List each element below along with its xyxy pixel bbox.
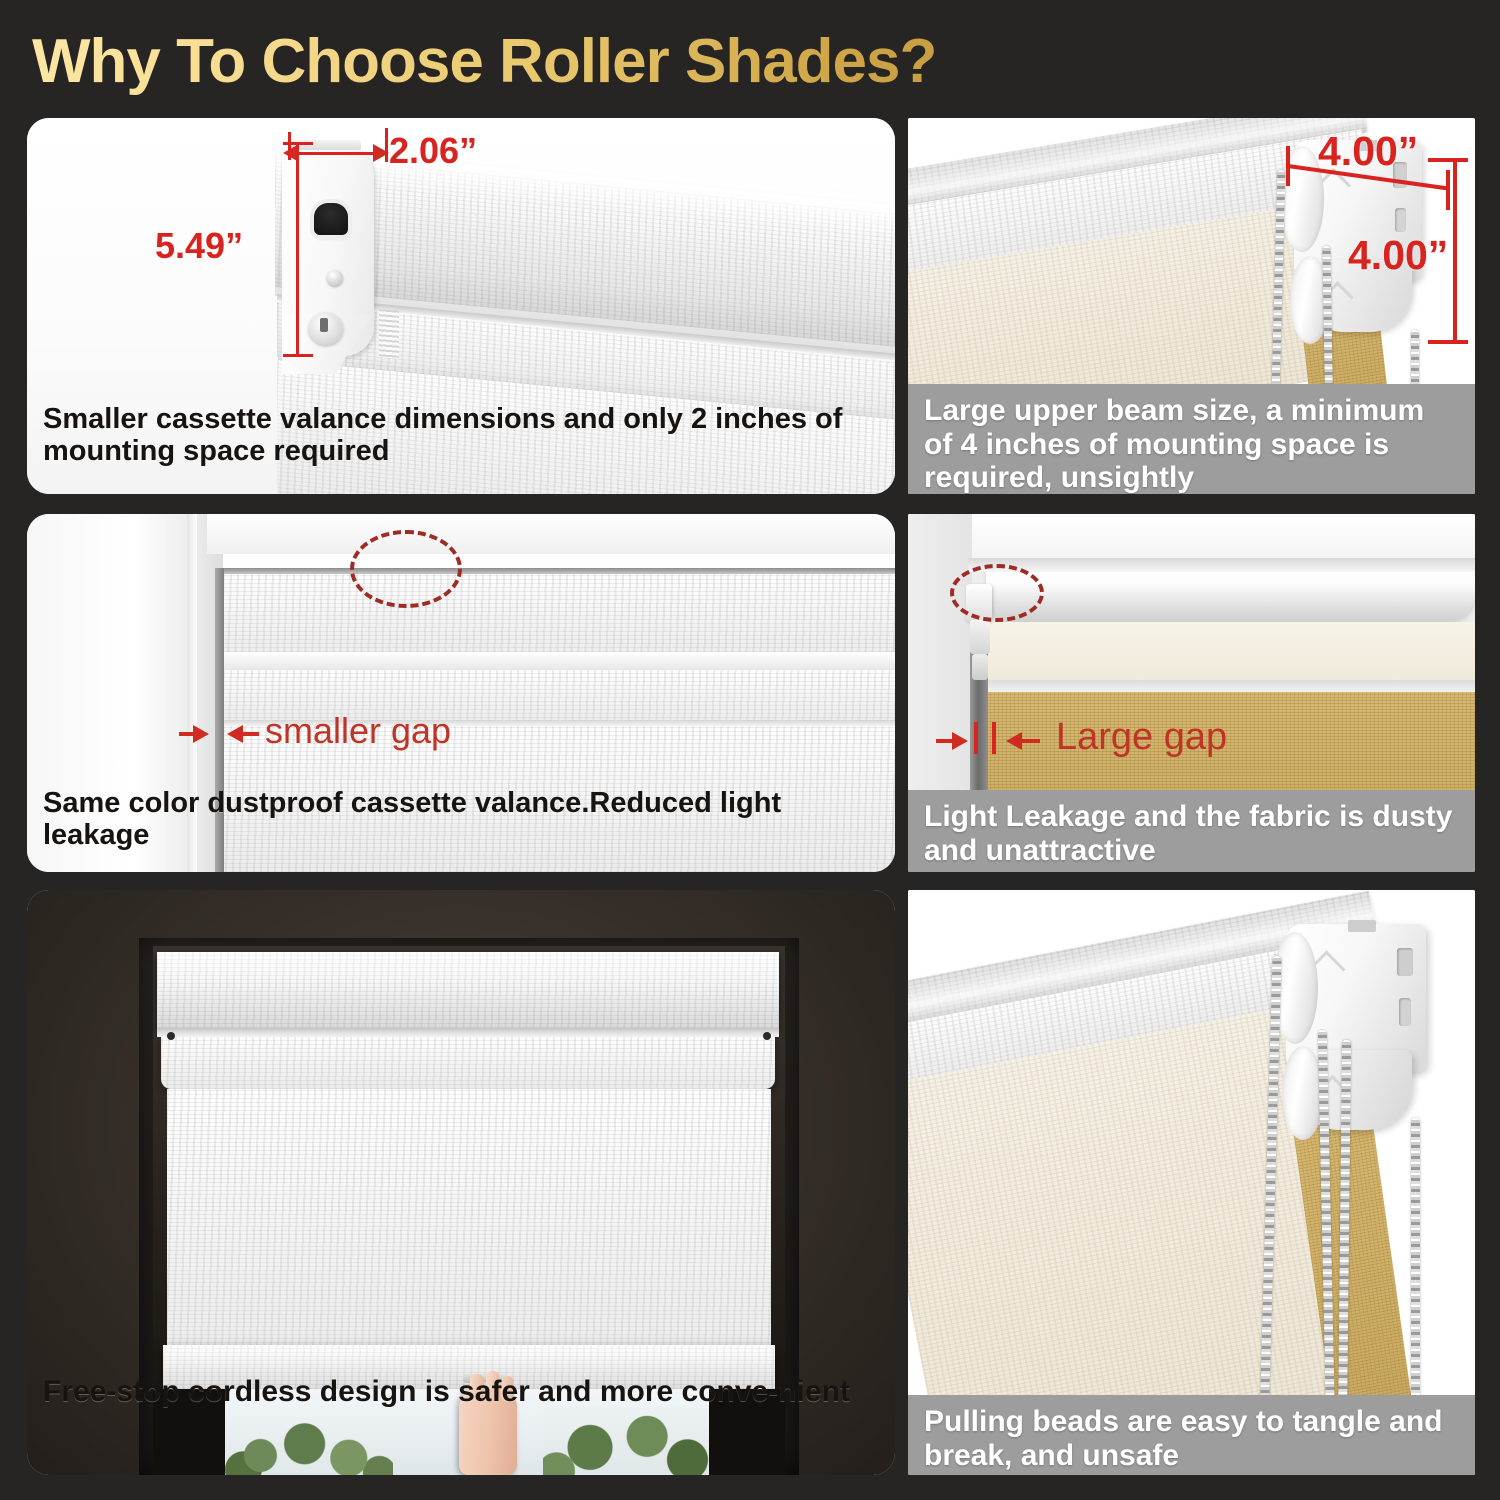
gap-tick-a xyxy=(974,722,978,754)
panel-large-upper-beam: 4.00” 4.00” Large upper beam size, a min… xyxy=(908,118,1475,494)
beam-width-tick-left xyxy=(1286,146,1290,186)
width-dimension-label: 2.06” xyxy=(389,130,477,172)
height-dimension-line xyxy=(296,142,299,356)
panel-4-caption: Light Leakage and the fabric is dusty an… xyxy=(908,790,1475,872)
page-title: Why To Choose Roller Shades? xyxy=(32,24,1132,100)
beam-height-line xyxy=(1453,158,1457,344)
highlight-ellipse xyxy=(350,530,462,608)
panel-dustproof-cassette: smaller gap Same color dustproof cassett… xyxy=(27,514,895,872)
gap-arrow-stem-right xyxy=(1020,739,1040,743)
panel-cordless-design: Free-stop cordless design is safer and m… xyxy=(27,890,895,1475)
width-tick-left xyxy=(288,132,291,160)
panel-1-caption: Smaller cassette valance dimensions and … xyxy=(27,393,895,494)
beam-width-tick-right xyxy=(1446,170,1450,210)
height-tick-top xyxy=(283,142,313,145)
beam-height-tick-bottom xyxy=(1428,340,1468,344)
panel-5-caption: Free-stop cordless design is safer and m… xyxy=(27,1365,895,1475)
panel-smaller-cassette: 2.06” 5.49” Smaller cassette valance dim… xyxy=(27,118,895,494)
highlight-ellipse xyxy=(950,564,1044,622)
panel-pulling-beads: Pulling beads are easy to tangle and bre… xyxy=(908,890,1475,1475)
height-tick-bottom xyxy=(283,354,313,357)
panel-2-caption: Large upper beam size, a minimum of 4 in… xyxy=(908,384,1475,494)
beam-height-label: 4.00” xyxy=(1348,232,1448,279)
bead-chain-4[interactable] xyxy=(1411,1118,1420,1428)
height-dimension-label: 5.49” xyxy=(155,225,243,267)
gap-arrow-stem-left xyxy=(179,732,197,736)
panel-6-artwork xyxy=(908,890,1475,1475)
beam-height-tick-top xyxy=(1428,158,1468,162)
gap-callout-label: smaller gap xyxy=(265,710,451,752)
gap-callout-label: Large gap xyxy=(1056,716,1227,759)
gap-arrow-stem-right xyxy=(241,732,259,736)
panel-6-caption: Pulling beads are easy to tangle and bre… xyxy=(908,1395,1475,1475)
panel-light-leakage: Large gap Light Leakage and the fabric i… xyxy=(908,514,1475,872)
panel-3-caption: Same color dustproof cassette valance.Re… xyxy=(27,777,895,872)
width-tick-right xyxy=(385,128,388,162)
shade-fabric xyxy=(167,1089,771,1359)
beam-width-label: 4.00” xyxy=(1318,128,1418,175)
gap-tick-b xyxy=(992,722,996,754)
gap-arrow-stem-left xyxy=(936,739,956,743)
